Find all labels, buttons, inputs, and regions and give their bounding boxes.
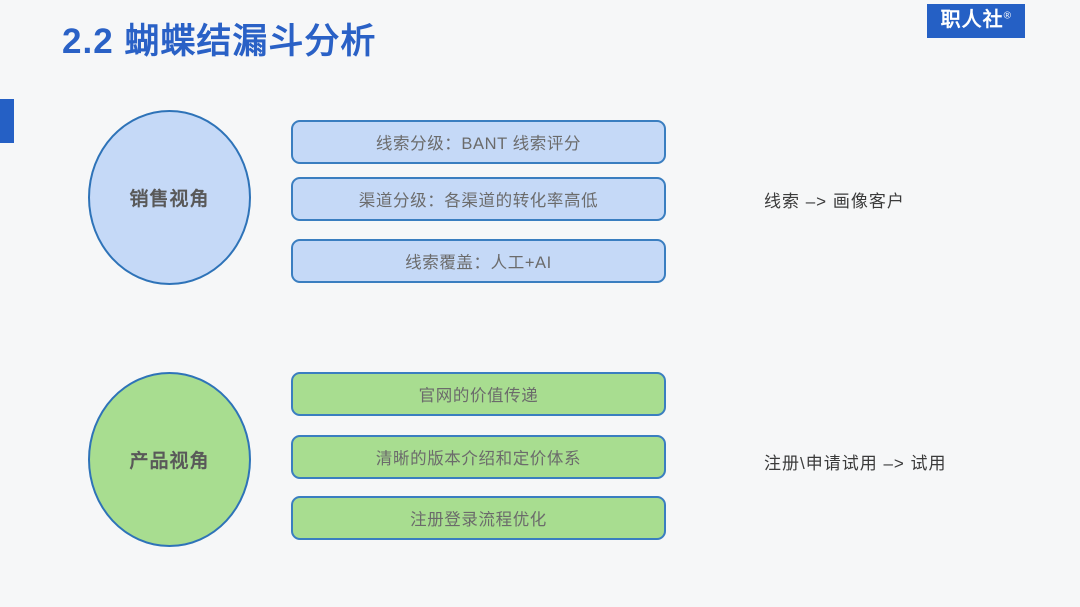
- list-item[interactable]: 线索覆盖：人工+AI: [291, 239, 666, 283]
- list-item[interactable]: 清晰的版本介绍和定价体系: [291, 435, 666, 479]
- sales-item-list: 线索分级：BANT 线索评分 渠道分级：各渠道的转化率高低 线索覆盖：人工+AI: [291, 120, 666, 283]
- list-item[interactable]: 注册登录流程优化: [291, 496, 666, 540]
- annotation-sales-flow: 线索 –> 画像客户: [764, 187, 905, 212]
- annotation-product-flow: 注册\申请试用 –> 试用: [764, 449, 947, 474]
- circle-sales-perspective: 销售视角: [88, 110, 251, 285]
- page-title: 2.2 蝴蝶结漏斗分析: [62, 13, 376, 64]
- list-item[interactable]: 线索分级：BANT 线索评分: [291, 120, 666, 164]
- circle-sales-label: 销售视角: [129, 184, 209, 211]
- product-item-list: 官网的价值传递 清晰的版本介绍和定价体系 注册登录流程优化: [291, 372, 666, 540]
- left-accent-tab: [0, 99, 14, 143]
- list-item[interactable]: 官网的价值传递: [291, 372, 666, 416]
- circle-product-perspective: 产品视角: [88, 372, 251, 547]
- slide-canvas: 职人社® 2.2 蝴蝶结漏斗分析 销售视角 线索分级：BANT 线索评分 渠道分…: [0, 0, 1080, 607]
- list-item[interactable]: 渠道分级：各渠道的转化率高低: [291, 177, 666, 221]
- brand-logo: 职人社®: [927, 4, 1025, 38]
- brand-logo-text: 职人社: [941, 9, 1004, 31]
- circle-product-label: 产品视角: [129, 446, 209, 473]
- registered-trademark-icon: ®: [1004, 10, 1011, 21]
